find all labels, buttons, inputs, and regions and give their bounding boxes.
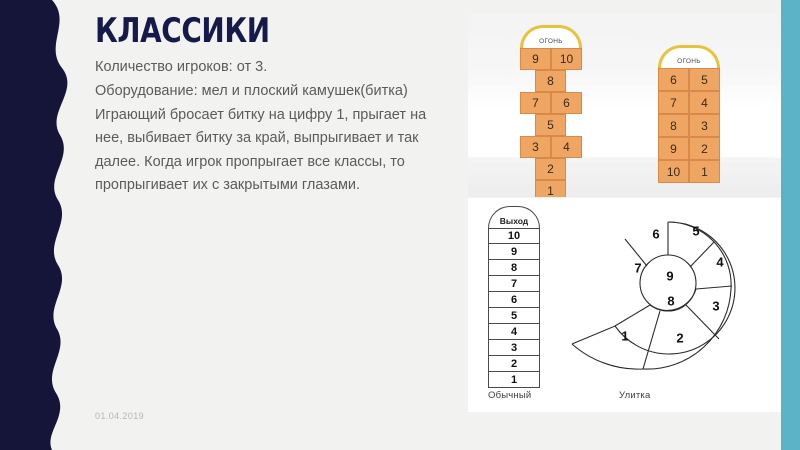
court-cell: 1	[689, 160, 720, 183]
fire-label-classic: ОГОНЬ	[523, 38, 579, 45]
ladder-rung: 6	[488, 292, 540, 308]
floor-background	[468, 12, 781, 197]
snail-cell-label: 3	[712, 298, 719, 313]
normal-court-ladder: Выход 10 9 8 7 6 5 4 3 2 1	[488, 206, 540, 388]
exit-label: Выход	[489, 216, 539, 226]
snail-cell-label: 2	[676, 330, 683, 345]
court-cell: 4	[689, 91, 720, 114]
court-cell: 7	[658, 91, 689, 114]
caption-normal: Обычный	[488, 390, 531, 401]
court-cell: 2	[689, 137, 720, 160]
caption-snail: Улитка	[619, 390, 650, 401]
court-cell: 10	[658, 160, 689, 183]
court-cell: 8	[535, 70, 566, 92]
ladder-rung: 1	[488, 372, 540, 388]
court-cell: 9	[520, 48, 551, 70]
fire-label-ladder: ОГОНЬ	[661, 58, 717, 65]
ladder-rung: 3	[488, 340, 540, 356]
ladder-rung: 2	[488, 356, 540, 372]
image-hopscotch-courts: ОГОНЬ 9 10 8 7 6 5 3 4 2 1 ОГОНЬ 6 5 7 4…	[468, 12, 781, 197]
paragraph-players: Количество игроков: от 3.	[95, 56, 458, 78]
slide-date: 01.04.2019	[95, 411, 144, 421]
page-title: КЛАССИКИ	[95, 14, 393, 50]
ladder-rung: 4	[488, 324, 540, 340]
court-cell: 6	[551, 92, 582, 114]
image-court-variants: Выход 10 9 8 7 6 5 4 3 2 1	[468, 198, 781, 412]
court-cell: 10	[551, 48, 582, 70]
slide-text-block: КЛАССИКИ Количество игроков: от 3. Обору…	[90, 14, 458, 200]
court-cell: 5	[535, 114, 566, 136]
ladder-rung: 5	[488, 308, 540, 324]
paragraph-rules: Играющий бросает битку на цифру 1, прыга…	[95, 104, 458, 198]
court-cell: 5	[689, 68, 720, 91]
snail-cell-label: 9	[666, 268, 673, 283]
court-cell: 8	[658, 114, 689, 137]
court-cell: 7	[520, 92, 551, 114]
snail-cell-label: 7	[634, 260, 641, 275]
court-cell: 1	[535, 180, 566, 197]
ladder-rung: 7	[488, 276, 540, 292]
paragraph-equipment: Оборудование: мел и плоский камушек(битк…	[95, 80, 458, 102]
ladder-rung: 10	[488, 228, 540, 244]
snail-cell-label: 8	[667, 293, 674, 308]
ladder-rung: 8	[488, 260, 540, 276]
court-cell: 3	[520, 136, 551, 158]
presentation-slide: КЛАССИКИ Количество игроков: от 3. Обору…	[0, 0, 800, 450]
snail-court-diagram: 1 2 3 4 5 6 7 8 9	[568, 204, 768, 384]
accent-bar-right	[781, 0, 800, 450]
court-cell: 6	[658, 68, 689, 91]
ladder-rung: 9	[488, 244, 540, 260]
court-cell: 9	[658, 137, 689, 160]
snail-cell-label: 4	[716, 254, 724, 269]
exit-arc: Выход	[488, 206, 540, 228]
court-cell: 3	[689, 114, 720, 137]
snail-cell-label: 1	[621, 328, 628, 343]
court-cell: 2	[535, 158, 566, 180]
snail-cell-label: 6	[652, 226, 659, 241]
court-cell: 4	[551, 136, 582, 158]
snail-cell-label: 5	[692, 223, 699, 238]
wave-decoration	[0, 0, 90, 450]
